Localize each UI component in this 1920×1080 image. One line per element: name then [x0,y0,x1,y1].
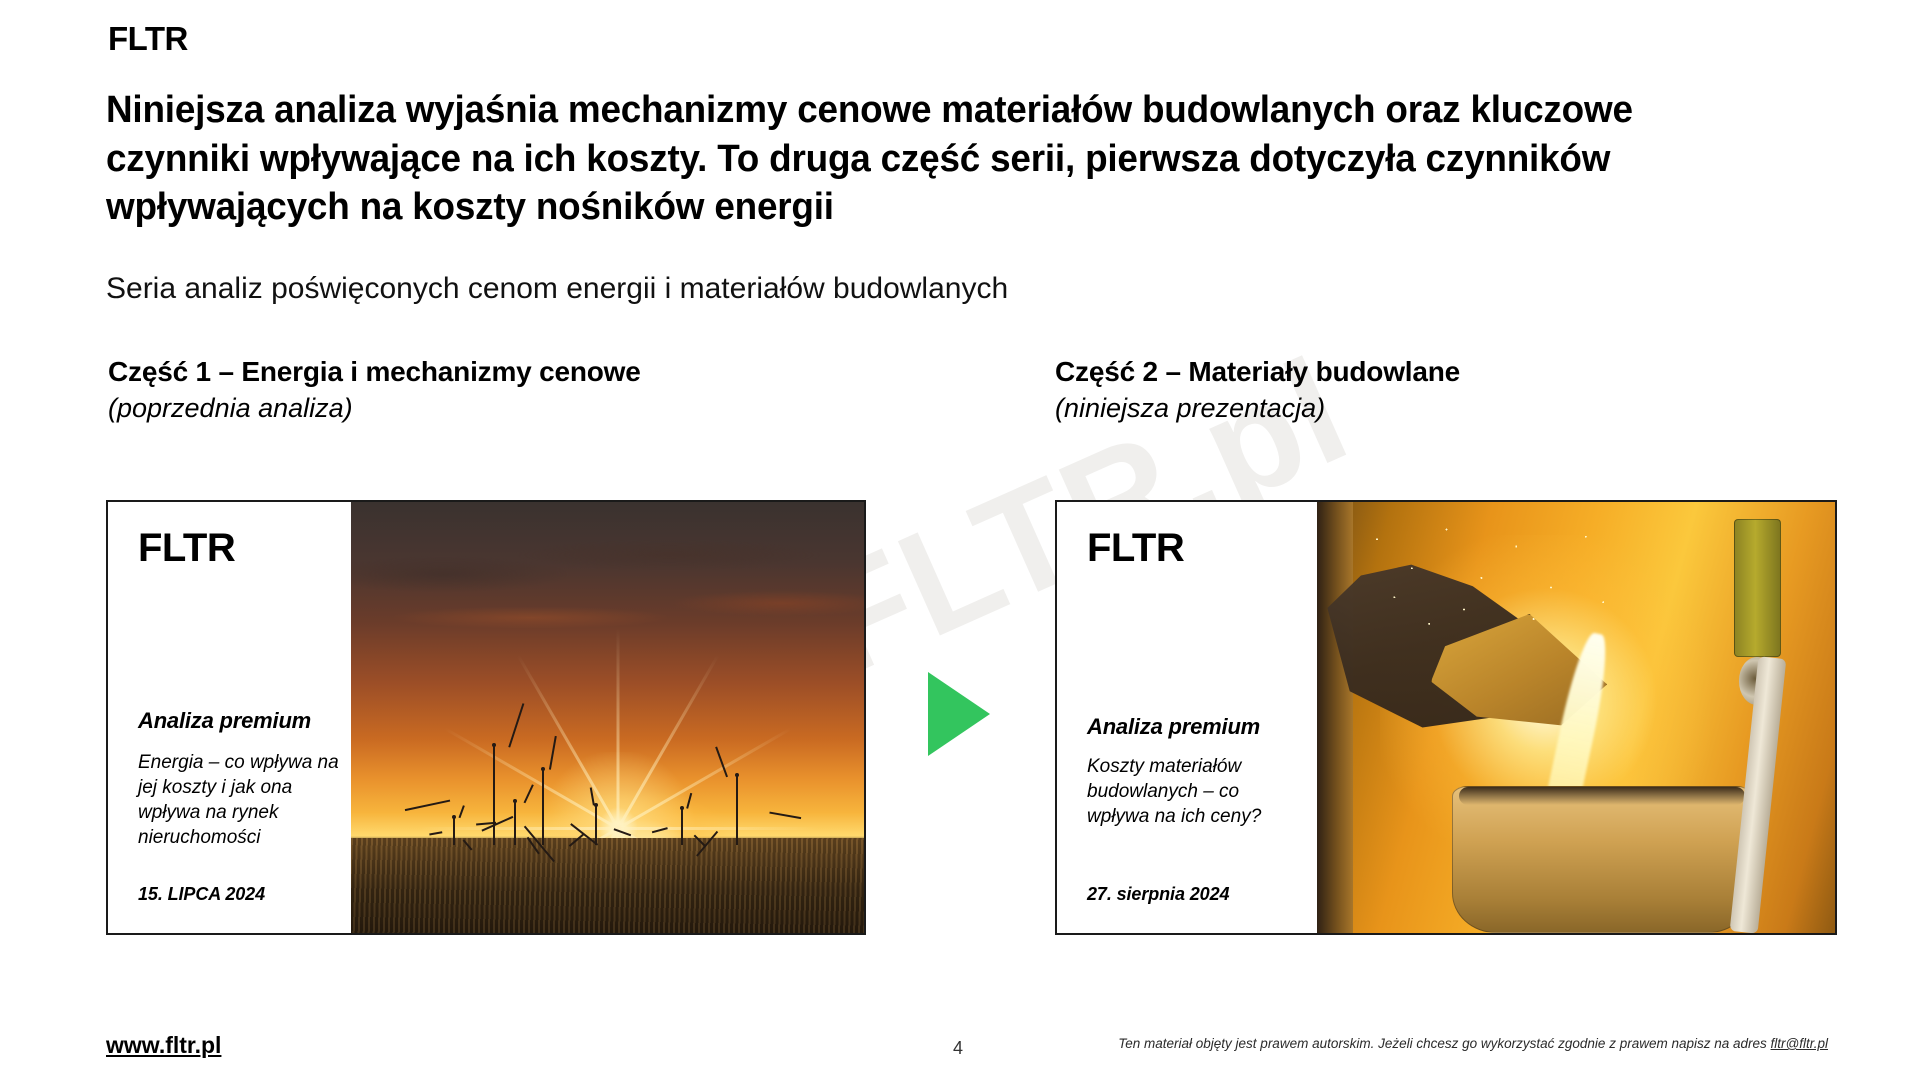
part-1-title: Część 1 – Energia i mechanizmy cenowe [108,354,641,389]
page-title: Niniejsza analiza wyjaśnia mechanizmy ce… [106,86,1784,232]
part-1-header: Część 1 – Energia i mechanizmy cenowe (p… [108,354,641,426]
card-premium-label: Analiza premium [138,708,311,734]
card-logo: FLTR [1087,528,1317,568]
sparks [1348,515,1638,636]
wind-turbine [443,805,465,845]
wind-turbine [500,783,530,845]
part-2-title: Część 2 – Materiały budowlane [1055,354,1460,389]
brand-logo: FLTR [108,20,188,58]
part-2-note: (niniejsza prezentacja) [1055,391,1460,426]
next-arrow-icon [928,672,990,756]
cloud-layer [351,502,864,743]
website-link[interactable]: www.fltr.pl [106,1032,221,1059]
card-description: Energia – co wpływa na jej koszty i jak … [138,750,343,850]
card-premium-label: Analiza premium [1087,714,1260,740]
copyright-notice: Ten materiał objęty jest prawem autorski… [1118,1036,1828,1051]
report-card-part-2-text: FLTR Analiza premium Koszty materiałów b… [1057,502,1317,933]
report-card-part-2[interactable]: FLTR Analiza premium Koszty materiałów b… [1055,500,1837,935]
wind-turbine [669,793,695,845]
wind-turbine-sunset-image [351,502,864,933]
wind-turbine [715,745,759,845]
card-logo: FLTR [138,528,351,568]
report-card-part-1[interactable]: FLTR Analiza premium Energia – co wpływa… [106,500,866,935]
copyright-text: Ten materiał objęty jest prawem autorski… [1118,1036,1770,1051]
molten-metal-foundry-image [1317,502,1835,933]
contact-email-link[interactable]: fltr@fltr.pl [1771,1036,1828,1051]
part-2-header: Część 2 – Materiały budowlane (niniejsza… [1055,354,1460,426]
machine-housing [1734,519,1781,657]
page-number: 4 [953,1038,963,1059]
card-date: 27. sierpnia 2024 [1087,884,1229,905]
card-photo-foundry [1317,502,1835,933]
crucible-vessel [1452,786,1752,933]
card-description: Koszty materiałów budowlanych – co wpływ… [1087,754,1302,829]
field-foreground [351,838,864,933]
card-photo-wind-turbines [351,502,864,933]
part-1-note: (poprzednia analiza) [108,391,641,426]
page-subtitle: Seria analiz poświęconych cenom energii … [106,272,1008,306]
card-date: 15. LIPCA 2024 [138,884,265,905]
report-card-part-1-text: FLTR Analiza premium Energia – co wpływa… [108,502,351,933]
wind-turbine [582,789,610,845]
